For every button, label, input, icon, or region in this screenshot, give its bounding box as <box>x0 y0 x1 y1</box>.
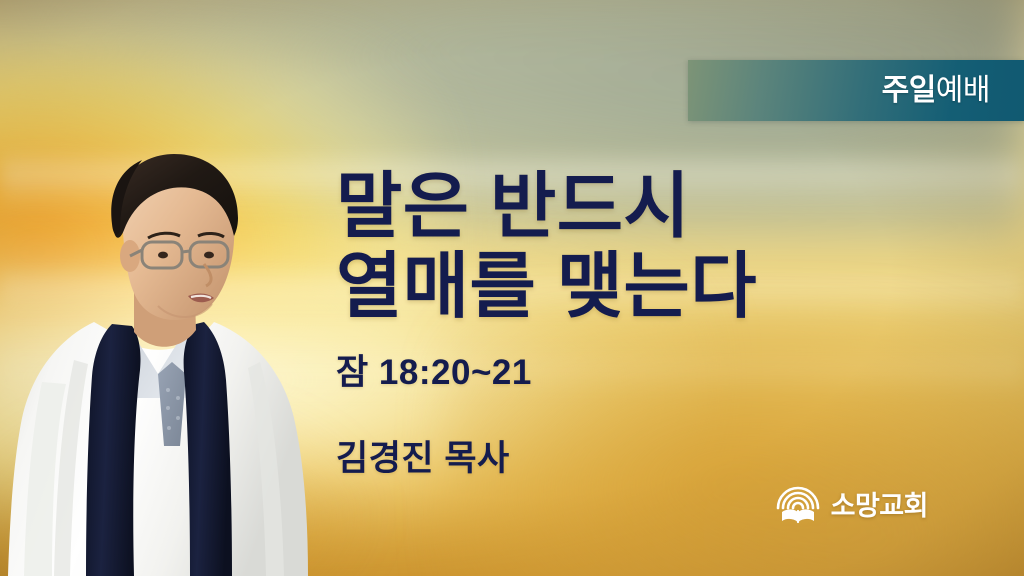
sermon-title-line-1: 말은 반드시 <box>336 168 896 248</box>
sermon-title-card: 주일예배 <box>0 0 1024 576</box>
service-category-light-text: 예배 <box>936 74 990 107</box>
preacher-name: 김경진 목사 <box>336 440 896 479</box>
sermon-text-block: 말은 반드시 열매를 맺는다 잠 18:20~21 김경진 목사 <box>336 168 896 479</box>
rainbow-open-book-icon <box>775 486 821 526</box>
sermon-title-line-2: 열매를 맺는다 <box>336 248 896 328</box>
service-category-banner: 주일예배 <box>688 60 1024 121</box>
church-logo: 소망교회 <box>775 486 928 526</box>
service-category-bold-text: 주일 <box>882 74 936 107</box>
service-category-label: 주일예배 <box>882 76 990 106</box>
church-name-label: 소망교회 <box>831 493 928 520</box>
scripture-reference: 잠 18:20~21 <box>336 354 896 393</box>
